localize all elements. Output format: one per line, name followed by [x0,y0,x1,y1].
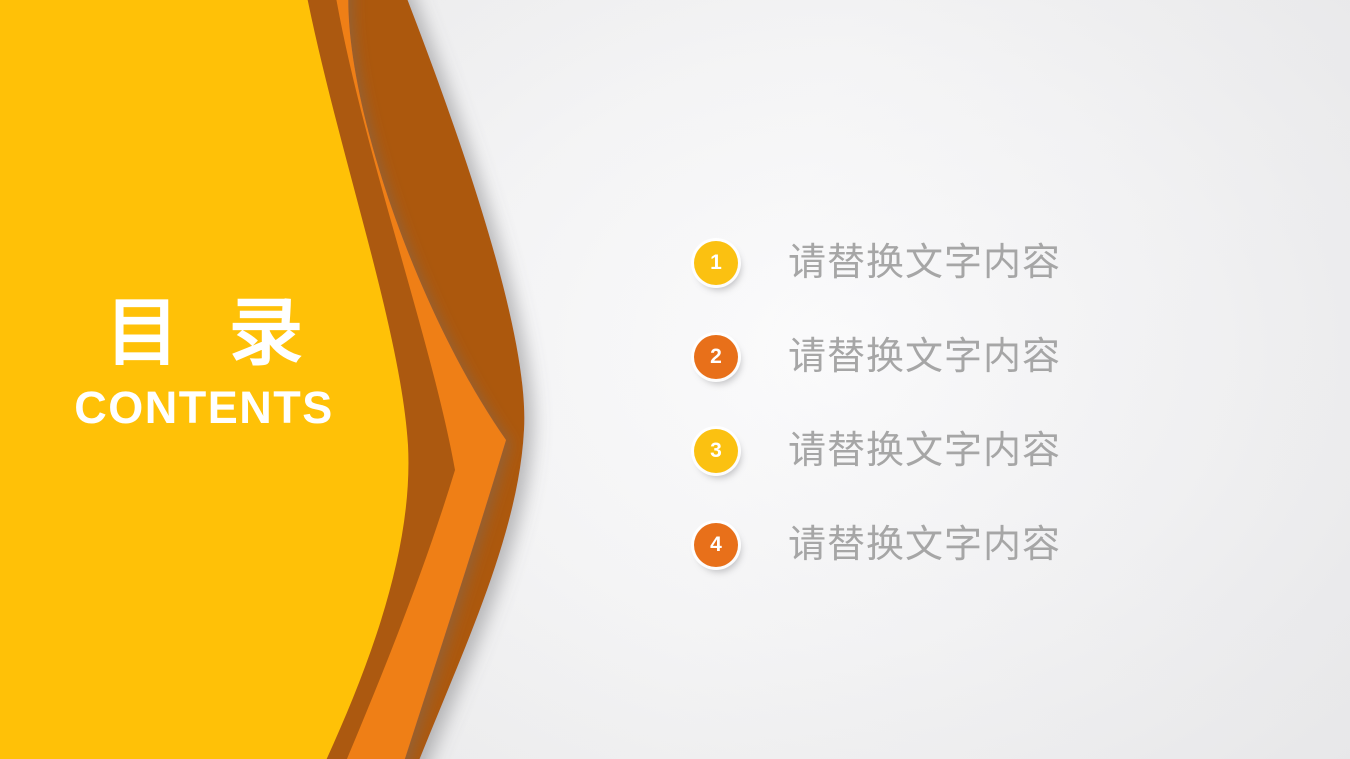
item-number: 2 [710,346,722,367]
item-number: 3 [710,440,722,461]
contents-slide: 目 录 CONTENTS 1 请替换文字内容 2 请替换文字内容 3 请替换文字… [0,0,1350,759]
title-block: 目 录 CONTENTS [0,296,408,431]
item-number-badge: 2 [694,335,738,379]
page-title-en: CONTENTS [0,384,408,431]
item-number-badge: 1 [694,241,738,285]
item-number-badge: 3 [694,429,738,473]
page-title-cn: 目 录 [0,296,408,370]
item-number: 4 [710,534,722,555]
item-label: 请替换文字内容 [788,242,1061,284]
item-number: 1 [710,252,722,273]
list-item[interactable]: 4 请替换文字内容 [694,498,1214,592]
list-item[interactable]: 1 请替换文字内容 [694,216,1214,310]
list-item[interactable]: 3 请替换文字内容 [694,404,1214,498]
item-label: 请替换文字内容 [788,524,1061,566]
item-number-badge: 4 [694,523,738,567]
contents-list: 1 请替换文字内容 2 请替换文字内容 3 请替换文字内容 4 请替换文字内容 [694,216,1214,592]
list-item[interactable]: 2 请替换文字内容 [694,310,1214,404]
item-label: 请替换文字内容 [788,430,1061,472]
item-label: 请替换文字内容 [788,336,1061,378]
